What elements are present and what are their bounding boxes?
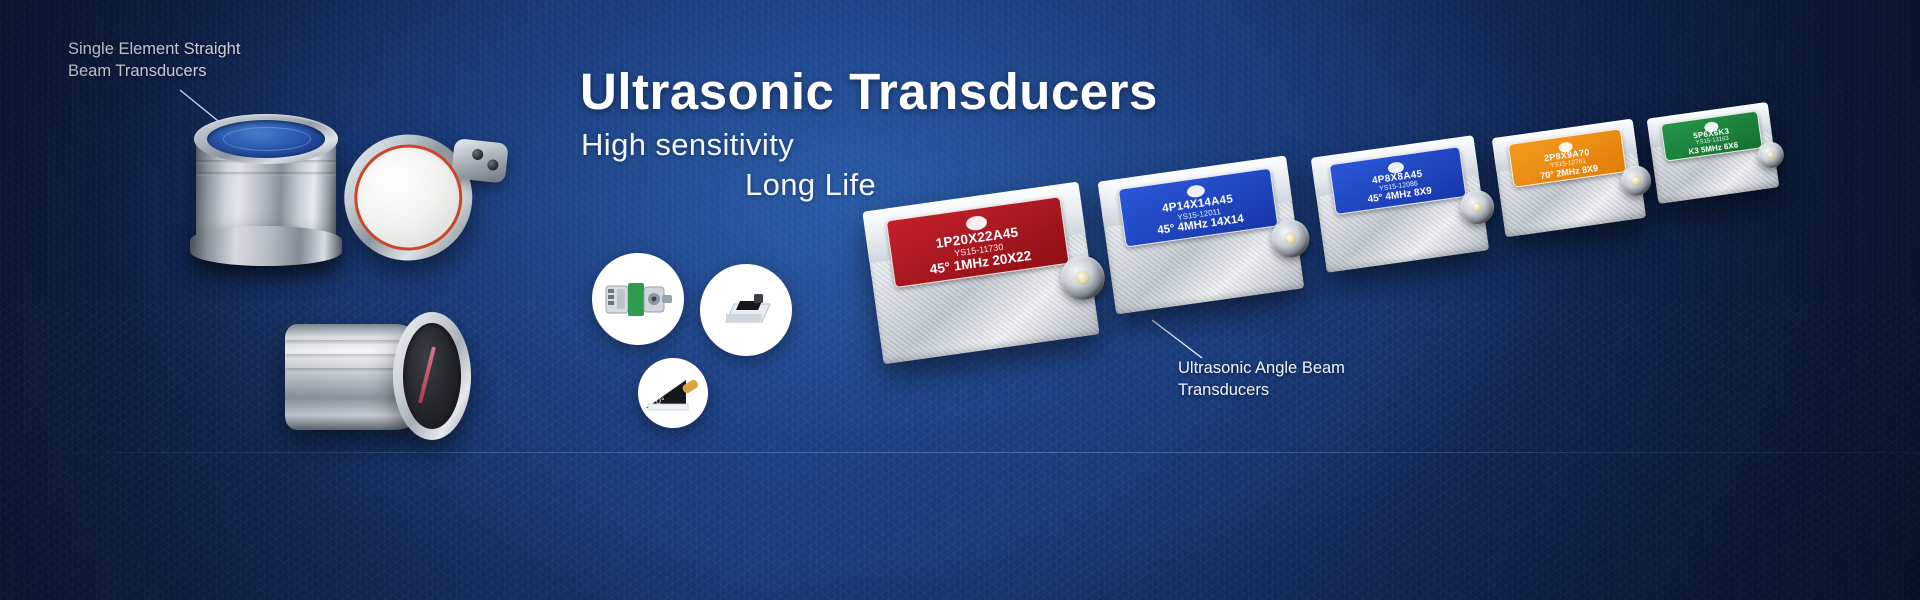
product-angle-beam-probe-orange: 2P8X9A70 YS15-12761 70° 2MHz 8X9	[1492, 119, 1647, 238]
product-banner: Ultrasonic Transducers High sensitivity …	[0, 0, 1920, 600]
product-angle-beam-probe-red: 1P20X22A45 YS15-11730 45° 1MHz 20X22	[862, 182, 1099, 365]
product-angle-beam-probe-green: 5P6X6K3 YS15-13163 K3 5MHz 6X6	[1647, 102, 1780, 204]
product-angle-beam-probe-blue: 4P14X14A45 YS15-12011 45° 4MHz 14X14	[1098, 155, 1305, 314]
product-angle-beam-probe-blue-2: 4P8X8A45 YS15-12086 45° 4MHz 8X9	[1311, 135, 1490, 273]
